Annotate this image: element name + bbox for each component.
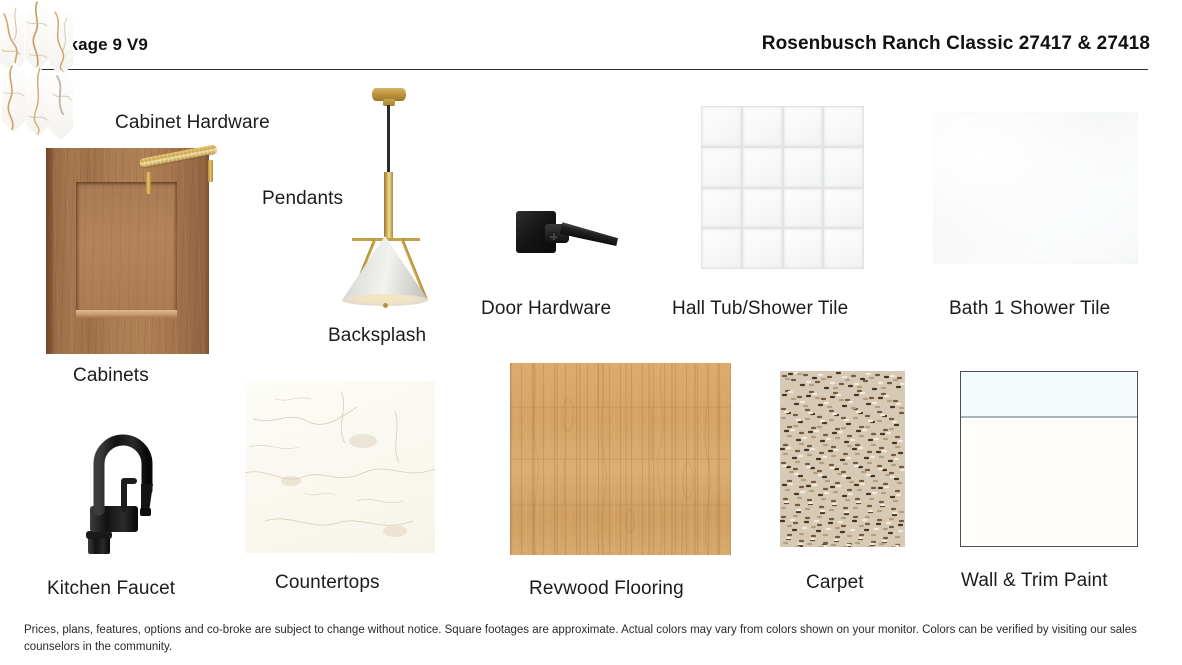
tile-cell xyxy=(743,229,782,268)
label-backsplash: Backsplash xyxy=(328,325,426,347)
pendant-brass-rod xyxy=(384,172,393,240)
pull-post-left xyxy=(146,172,151,194)
swatch-carpet[interactable] xyxy=(780,371,905,547)
tile-cell xyxy=(743,148,782,187)
picket-tile xyxy=(49,6,73,76)
door-lever-screw xyxy=(549,232,558,241)
picket-tile xyxy=(26,66,50,136)
swatch-door-hardware[interactable] xyxy=(516,205,620,267)
tile-cell xyxy=(702,107,741,146)
community-title: Rosenbusch Ranch Classic 27417 & 27418 xyxy=(762,33,1150,55)
tile-cell xyxy=(743,189,782,228)
door-lever-handle xyxy=(560,222,619,247)
swatch-pendants[interactable] xyxy=(330,88,440,310)
pendant-cord xyxy=(387,105,390,173)
cabinet-left-stile xyxy=(46,148,53,354)
pull-post-right xyxy=(208,160,213,182)
design-package-board: Package 9 V9 Rosenbusch Ranch Classic 27… xyxy=(0,0,1182,665)
board-header: Package 9 V9 Rosenbusch Ranch Classic 27… xyxy=(0,0,1182,68)
picket-tile xyxy=(25,0,49,70)
swatch-backsplash[interactable] xyxy=(0,0,72,140)
picket-tile xyxy=(49,70,73,140)
tile-cell xyxy=(702,148,741,187)
paint-chip-wall xyxy=(961,372,1137,418)
swatch-cabinet-hardware[interactable] xyxy=(140,142,220,202)
tile-cell xyxy=(784,107,823,146)
swatch-wall-trim-paint[interactable] xyxy=(960,371,1138,547)
swatch-countertops[interactable] xyxy=(245,381,435,553)
pull-bar xyxy=(139,144,217,168)
tile-cell xyxy=(702,229,741,268)
picket-tile xyxy=(2,62,26,132)
pendant-finial xyxy=(383,303,388,308)
cabinet-panel-bevel xyxy=(76,310,177,318)
swatch-revwood-flooring[interactable] xyxy=(510,363,731,555)
swatch-bath-1-shower-tile[interactable] xyxy=(933,112,1138,264)
tile-cell xyxy=(824,148,863,187)
label-kitchen-faucet: Kitchen Faucet xyxy=(47,578,175,600)
tile-cell xyxy=(784,189,823,228)
tile-cell xyxy=(824,107,863,146)
tile-cell xyxy=(824,189,863,228)
label-cabinet-hardware: Cabinet Hardware xyxy=(115,112,270,134)
tile-cell xyxy=(784,229,823,268)
paint-chip-trim xyxy=(961,420,1137,546)
label-hall-tub-shower-tile: Hall Tub/Shower Tile xyxy=(672,298,848,320)
picket-tile xyxy=(0,4,24,74)
tile-cell xyxy=(784,148,823,187)
label-door-hardware: Door Hardware xyxy=(481,298,611,320)
tile-cell xyxy=(824,229,863,268)
label-countertops: Countertops xyxy=(275,572,380,594)
label-carpet: Carpet xyxy=(806,572,864,594)
label-bath-1-shower-tile: Bath 1 Shower Tile xyxy=(949,298,1110,320)
swatch-hall-tub-shower-tile[interactable] xyxy=(701,106,864,269)
label-revwood-flooring: Revwood Flooring xyxy=(529,578,684,600)
label-wall-trim-paint: Wall & Trim Paint xyxy=(961,570,1108,592)
header-divider xyxy=(36,69,1148,70)
swatch-kitchen-faucet[interactable] xyxy=(70,418,180,558)
label-cabinets: Cabinets xyxy=(73,365,149,387)
tile-cell xyxy=(743,107,782,146)
tile-cell xyxy=(702,189,741,228)
footer-disclaimer: Prices, plans, features, options and co-… xyxy=(24,622,1144,655)
